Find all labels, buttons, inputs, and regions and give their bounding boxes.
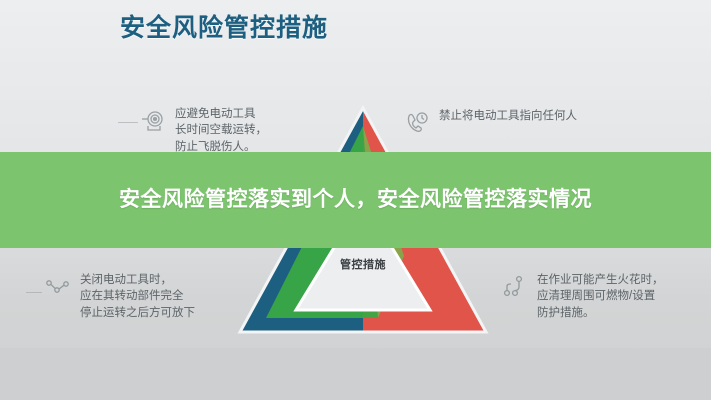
connected-dots-icon — [45, 274, 71, 300]
screenshot-root: 安全风险管控措施 管控措施 — [0, 0, 711, 400]
fact-block-clear-combustibles-near-sparks: 在作业可能产生火花时， 应清理周围可燃物/设置 防护措施。 — [502, 272, 664, 321]
caption-text: 安全风险管控落实到个人，安全风险管控落实情况 — [119, 186, 592, 214]
fact-block-avoid-idle-running: 应避免电动工具 长时间空载运转， 防止飞脱伤人。 — [140, 106, 267, 155]
no-point-tool-icon — [404, 110, 430, 136]
connector-tick-left-bottom — [26, 292, 42, 293]
fact-text: 关闭电动工具时， 应在其转动部件完全 停止运转之后方可放下 — [80, 272, 195, 321]
fact-text: 禁止将电动工具指向任何人 — [439, 108, 577, 124]
fact-text: 应避免电动工具 长时间空载运转， 防止飞脱伤人。 — [175, 106, 267, 155]
node-network-icon — [502, 274, 528, 300]
fact-block-set-down-after-stop: 关闭电动工具时， 应在其转动部件完全 停止运转之后方可放下 — [45, 272, 195, 321]
page-title: 安全风险管控措施 — [120, 8, 328, 44]
fact-text: 在作业可能产生火花时， 应清理周围可燃物/设置 防护措施。 — [537, 272, 664, 321]
caption-overlay-band: 安全风险管控落实到个人，安全风险管控落实情况 — [0, 152, 711, 248]
connector-tick-left-top — [118, 122, 138, 123]
triangle-center-label: 管控措施 — [228, 256, 498, 272]
power-tool-grinder-icon — [140, 108, 166, 134]
fact-block-never-point-at-people: 禁止将电动工具指向任何人 — [404, 108, 654, 136]
